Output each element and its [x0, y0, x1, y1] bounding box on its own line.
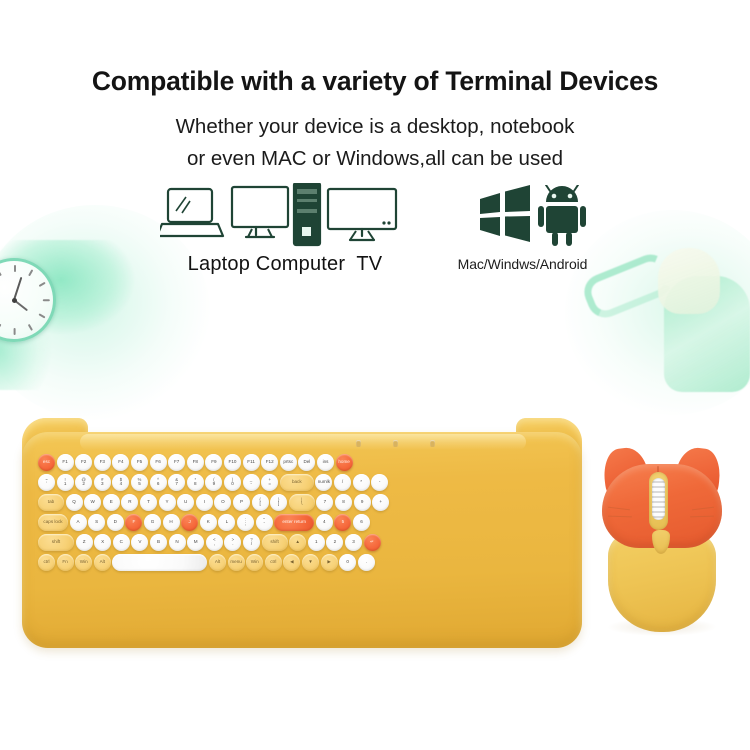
- key-home[interactable]: home: [336, 454, 353, 471]
- key-e[interactable]: E: [103, 494, 120, 511]
- key-ctrl[interactable]: ctrl: [38, 554, 55, 571]
- key-prtsc[interactable]: prtsc: [280, 454, 297, 471]
- key--[interactable]: <,: [206, 534, 223, 551]
- key-numlk[interactable]: numlk: [315, 474, 332, 491]
- key--[interactable]: >.: [224, 534, 241, 551]
- key-y[interactable]: Y: [159, 494, 176, 511]
- monitor-icon: [232, 187, 288, 237]
- key--[interactable]: {[: [252, 494, 269, 511]
- key-p[interactable]: P: [233, 494, 250, 511]
- key-i[interactable]: I: [196, 494, 213, 511]
- key-shift[interactable]: shift: [262, 534, 288, 551]
- mouse-scroll-wheel[interactable]: [652, 478, 665, 520]
- key-alt[interactable]: Alt: [94, 554, 111, 571]
- key-z[interactable]: Z: [76, 534, 93, 551]
- key--[interactable]: +: [372, 494, 389, 511]
- key-esc[interactable]: esc: [38, 454, 55, 471]
- key-tab[interactable]: tab: [38, 494, 64, 511]
- key--[interactable]: .: [358, 554, 375, 571]
- key--[interactable]: ↵: [364, 534, 381, 551]
- key-h[interactable]: H: [163, 514, 180, 531]
- key-1[interactable]: 1: [308, 534, 325, 551]
- key--[interactable]: ~`: [38, 474, 55, 491]
- subtitle-line-1: Whether your device is a desktop, notebo…: [0, 115, 750, 139]
- key-f[interactable]: F: [125, 514, 142, 531]
- key-n[interactable]: N: [169, 534, 186, 551]
- key-f6[interactable]: F6: [150, 454, 167, 471]
- product-image-canvas: Compatible with a variety of Terminal De…: [0, 0, 750, 750]
- key-f11[interactable]: F11: [243, 454, 260, 471]
- keyboard-product: escF1F2F3F4F5F6F7F8F9F10F11F12prtscDelin…: [22, 418, 582, 648]
- key-2[interactable]: 2: [326, 534, 343, 551]
- key-f12[interactable]: F12: [261, 454, 278, 471]
- key--[interactable]: _-: [243, 474, 260, 491]
- key-f1[interactable]: F1: [57, 454, 74, 471]
- key-f10[interactable]: F10: [224, 454, 241, 471]
- key-u[interactable]: U: [177, 494, 194, 511]
- key-5[interactable]: 5: [334, 514, 351, 531]
- key-win[interactable]: Win: [75, 554, 92, 571]
- key-4[interactable]: 4: [316, 514, 333, 531]
- devices-label: Laptop Computer TV: [150, 253, 420, 276]
- key-5[interactable]: %5: [131, 474, 148, 491]
- key-8[interactable]: 8: [335, 494, 352, 511]
- key-b[interactable]: B: [150, 534, 167, 551]
- key-c[interactable]: C: [113, 534, 130, 551]
- key-t[interactable]: T: [140, 494, 157, 511]
- os-badge-row: [478, 185, 588, 247]
- baby-bottle-decoration: [608, 232, 750, 392]
- key-9[interactable]: 9: [354, 494, 371, 511]
- key--[interactable]: }]: [270, 494, 287, 511]
- key-g[interactable]: G: [144, 514, 161, 531]
- key-4[interactable]: $4: [112, 474, 129, 491]
- key-d[interactable]: D: [107, 514, 124, 531]
- key--[interactable]: :;: [237, 514, 254, 531]
- key-ctrl[interactable]: ctrl: [265, 554, 282, 571]
- keycap-layer[interactable]: escF1F2F3F4F5F6F7F8F9F10F11F12prtscDelin…: [22, 432, 582, 648]
- key--[interactable]: +=: [261, 474, 278, 491]
- key-v[interactable]: V: [131, 534, 148, 551]
- key-m[interactable]: M: [187, 534, 204, 551]
- key-9[interactable]: (9: [205, 474, 222, 491]
- key-f9[interactable]: F9: [205, 454, 222, 471]
- key-shift[interactable]: shift: [38, 534, 74, 551]
- key--[interactable]: |\: [289, 494, 315, 511]
- key-o[interactable]: O: [214, 494, 231, 511]
- key--[interactable]: ▼: [302, 554, 319, 571]
- key-7[interactable]: &7: [168, 474, 185, 491]
- tv-icon: [328, 189, 396, 240]
- subtitle-line-2: or even MAC or Windows,all can be used: [0, 147, 750, 171]
- mouse-product: [598, 446, 726, 636]
- key-6[interactable]: ^6: [150, 474, 167, 491]
- android-robot-icon: [538, 185, 586, 246]
- key--[interactable]: -: [371, 474, 388, 491]
- key-2[interactable]: @2: [75, 474, 92, 491]
- key-w[interactable]: W: [84, 494, 101, 511]
- key--[interactable]: ▶: [321, 554, 338, 571]
- key-f4[interactable]: F4: [112, 454, 129, 471]
- key-x[interactable]: X: [94, 534, 111, 551]
- key-q[interactable]: Q: [66, 494, 83, 511]
- key-back[interactable]: back: [280, 474, 314, 491]
- key-s[interactable]: S: [88, 514, 105, 531]
- key-f7[interactable]: F7: [168, 454, 185, 471]
- key-f2[interactable]: F2: [75, 454, 92, 471]
- key-alt[interactable]: Alt: [209, 554, 226, 571]
- key--[interactable]: ▲: [289, 534, 306, 551]
- key-enter-return[interactable]: enter return: [274, 514, 314, 531]
- key-f3[interactable]: F3: [94, 454, 111, 471]
- pc-tower-icon: [294, 183, 320, 245]
- key-fn[interactable]: Fn: [57, 554, 74, 571]
- key-del[interactable]: Del: [298, 454, 315, 471]
- laptop-icon: [160, 189, 223, 236]
- key-r[interactable]: R: [121, 494, 138, 511]
- key-8[interactable]: *8: [187, 474, 204, 491]
- key-ins[interactable]: ins: [317, 454, 334, 471]
- key-caps-lock[interactable]: caps lock: [38, 514, 68, 531]
- windows-logo-icon: [480, 185, 530, 242]
- key-0[interactable]: 0: [339, 554, 356, 571]
- key--[interactable]: ?/: [243, 534, 260, 551]
- key--[interactable]: /: [334, 474, 351, 491]
- key-7[interactable]: 7: [316, 494, 333, 511]
- key-space[interactable]: [112, 554, 207, 571]
- key-j[interactable]: J: [181, 514, 198, 531]
- key--[interactable]: ◀: [283, 554, 300, 571]
- key-6[interactable]: 6: [353, 514, 370, 531]
- key-f5[interactable]: F5: [131, 454, 148, 471]
- wristwatch-decoration: [0, 240, 136, 390]
- device-icon-row: [160, 183, 400, 249]
- os-label: Mac/Windws/Android: [440, 256, 605, 272]
- key-a[interactable]: A: [70, 514, 87, 531]
- key-1[interactable]: !1: [57, 474, 74, 491]
- page-title: Compatible with a variety of Terminal De…: [0, 66, 750, 97]
- key-win[interactable]: Win: [246, 554, 263, 571]
- key-menu[interactable]: menu: [228, 554, 245, 571]
- bottle-nipple: [658, 248, 720, 314]
- key-k[interactable]: K: [200, 514, 217, 531]
- key-3[interactable]: #3: [94, 474, 111, 491]
- key-0[interactable]: )0: [224, 474, 241, 491]
- key--[interactable]: *: [353, 474, 370, 491]
- key-l[interactable]: L: [218, 514, 235, 531]
- key-3[interactable]: 3: [345, 534, 362, 551]
- key--[interactable]: "': [256, 514, 273, 531]
- key-f8[interactable]: F8: [187, 454, 204, 471]
